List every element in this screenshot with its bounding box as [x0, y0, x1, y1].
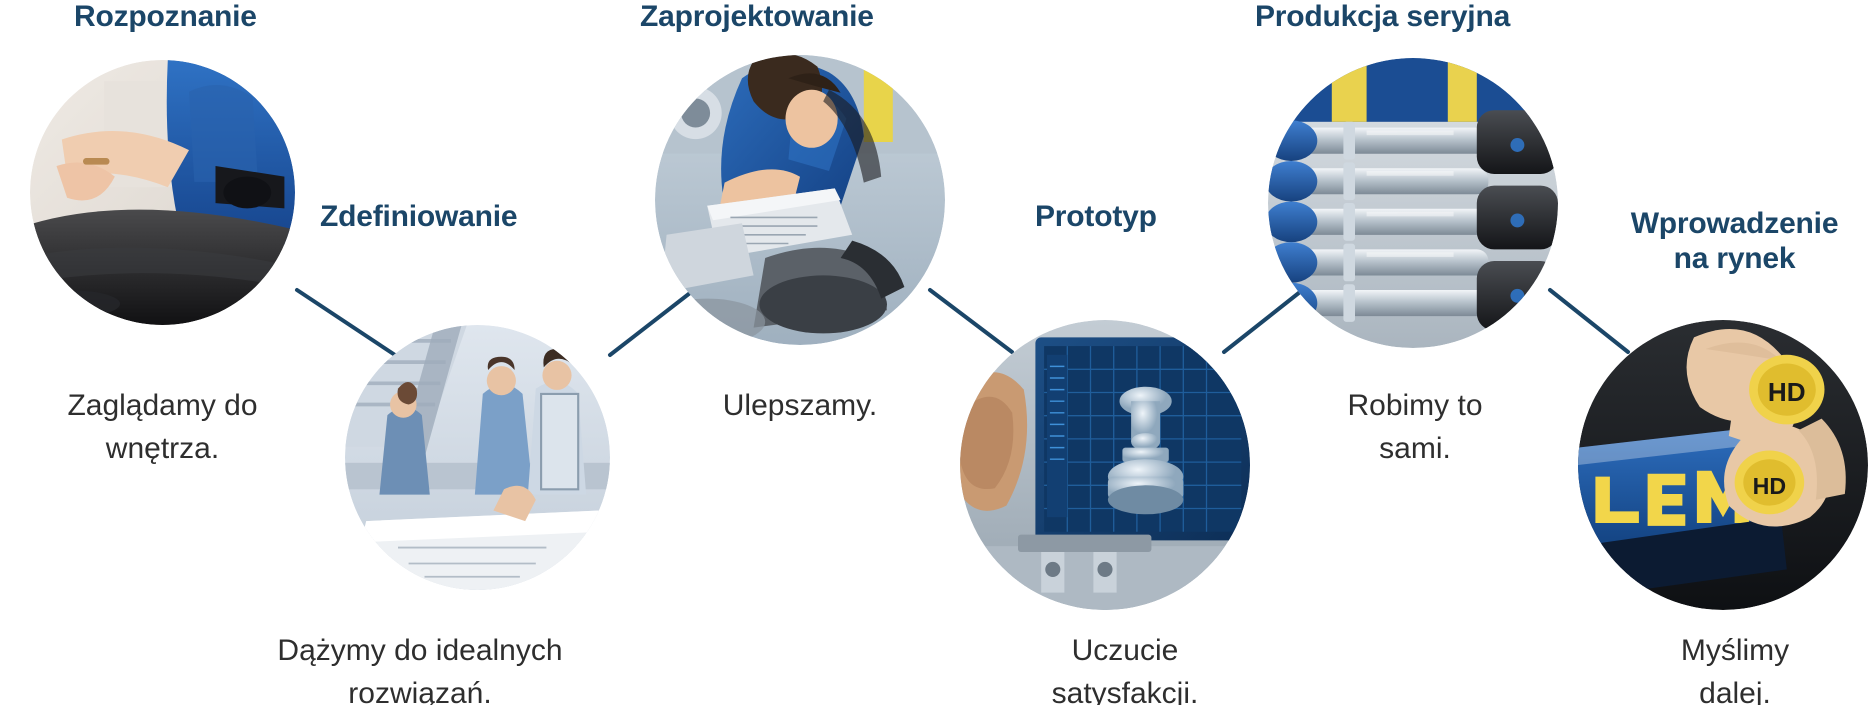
step-caption-zaprojektowanie: Ulepszamy. [640, 385, 960, 428]
svg-text:HD: HD [1768, 377, 1806, 407]
connector-3-4 [930, 290, 1012, 352]
step-caption-zdefiniowanie: Dążymy do idealnych rozwiązań. [260, 630, 580, 705]
step-image-zdefiniowanie [345, 325, 610, 590]
step-image-prototyp [960, 320, 1250, 610]
connector-5-6 [1550, 290, 1628, 352]
step-caption-wprowadzenie-na-rynek: Myślimy dalej. [1605, 630, 1865, 705]
process-diagram: Rozpoznanie Zaglądamy do wnętrza. [0, 0, 1869, 705]
step-title-zaprojektowanie: Zaprojektowanie [640, 0, 960, 35]
step-caption-prototyp: Uczucie satysfakcji. [1000, 630, 1250, 705]
connector-lines [0, 0, 1869, 705]
step-image-wprowadzenie-na-rynek: HD HD [1578, 320, 1868, 610]
step-title-wprowadzenie-na-rynek: Wprowadzenie na rynek [1600, 207, 1869, 277]
step-caption-rozpoznanie: Zaglądamy do wnętrza. [20, 385, 305, 470]
step-image-produkcja-seryjna [1268, 58, 1558, 348]
step-caption-produkcja-seryjna: Robimy to sami. [1285, 385, 1545, 470]
step-image-zaprojektowanie [655, 55, 945, 345]
svg-text:HD: HD [1753, 473, 1787, 499]
step-title-prototyp: Prototyp [1035, 200, 1255, 235]
step-title-zdefiniowanie: Zdefiniowanie [320, 200, 570, 235]
connector-4-5 [1224, 292, 1300, 352]
step-title-produkcja-seryjna: Produkcja seryjna [1255, 0, 1585, 35]
connector-1-2 [297, 290, 395, 355]
step-title-rozpoznanie: Rozpoznanie [74, 0, 304, 35]
step-image-rozpoznanie [30, 60, 295, 325]
connector-2-3 [610, 293, 690, 355]
